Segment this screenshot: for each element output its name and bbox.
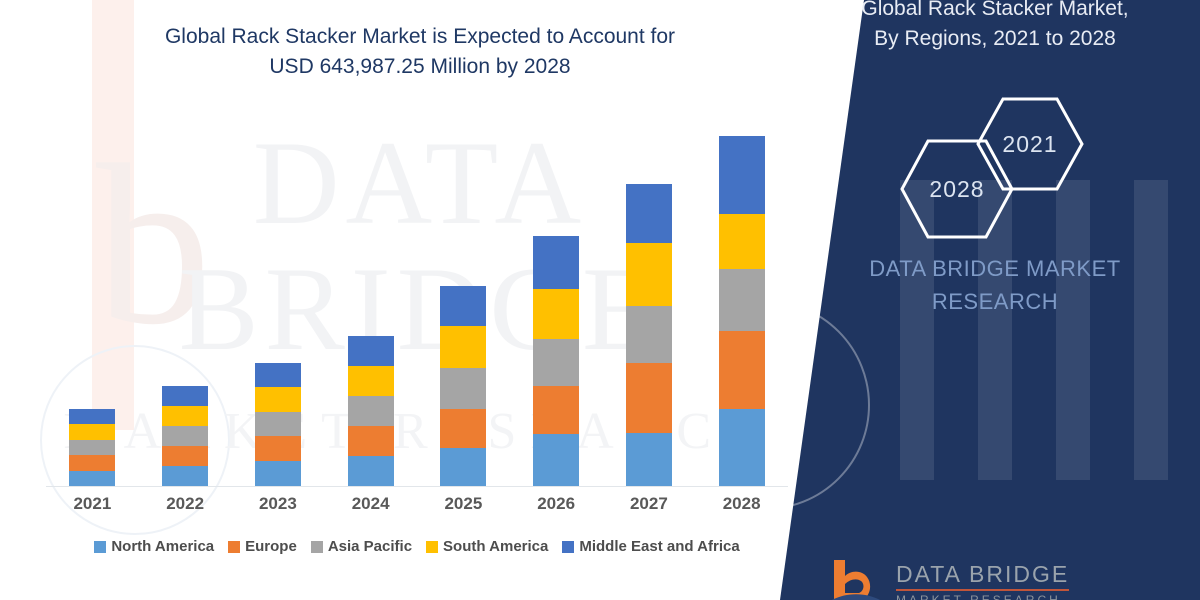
bar-segment[interactable]	[719, 269, 765, 331]
bar-segment[interactable]	[440, 286, 486, 326]
legend-label: Middle East and Africa	[579, 538, 739, 555]
x-axis-tick-label: 2025	[418, 494, 508, 514]
hexagon-2021-label: 2021	[1002, 131, 1057, 158]
bar-segment[interactable]	[348, 336, 394, 366]
brand-panel: Global Rack Stacker Market, By Regions, …	[780, 0, 1200, 600]
bar-segment[interactable]	[533, 434, 579, 486]
x-axis-tick-label: 2021	[47, 494, 137, 514]
chart-title: Global Rack Stacker Market is Expected t…	[60, 22, 780, 83]
x-axis-tick-label: 2028	[697, 494, 787, 514]
bar-stack[interactable]	[533, 236, 579, 486]
brand-name-line-2: RESEARCH	[800, 285, 1190, 318]
bar-segment[interactable]	[440, 409, 486, 448]
bar-segment[interactable]	[626, 243, 672, 306]
stacked-bar-series	[46, 120, 788, 486]
legend-item[interactable]: North America	[94, 538, 214, 555]
bar-segment[interactable]	[626, 306, 672, 363]
bar-segment[interactable]	[69, 424, 115, 440]
bar-stack[interactable]	[626, 184, 672, 486]
legend-label: North America	[111, 538, 214, 555]
bar-segment[interactable]	[533, 236, 579, 289]
legend-swatch-icon	[311, 541, 323, 553]
bar-segment[interactable]	[533, 339, 579, 386]
bar-stack[interactable]	[719, 136, 765, 486]
logo-title: DATA BRIDGE	[896, 563, 1069, 586]
legend-swatch-icon	[228, 541, 240, 553]
bar-segment[interactable]	[348, 426, 394, 456]
bar-stack[interactable]	[69, 409, 115, 486]
logo-divider	[896, 589, 1069, 591]
legend-item[interactable]: Asia Pacific	[311, 538, 412, 555]
bar-column	[604, 120, 694, 486]
legend-item[interactable]: South America	[426, 538, 548, 555]
bar-segment[interactable]	[255, 412, 301, 436]
bar-segment[interactable]	[162, 386, 208, 406]
bar-segment[interactable]	[255, 461, 301, 486]
legend-swatch-icon	[426, 541, 438, 553]
bar-column	[233, 120, 323, 486]
bar-segment[interactable]	[626, 433, 672, 486]
bar-segment[interactable]	[255, 363, 301, 387]
x-axis-tick-label: 2022	[140, 494, 230, 514]
brand-name: DATA BRIDGE MARKET RESEARCH	[800, 252, 1190, 318]
bar-column	[697, 120, 787, 486]
bar-column	[511, 120, 601, 486]
bar-segment[interactable]	[533, 289, 579, 339]
bar-segment[interactable]	[719, 331, 765, 409]
hexagon-badges: 2028 2021	[898, 95, 1108, 230]
infographic-canvas: b DATA BRIDGE MARKET RESEARCH Global Rac…	[0, 0, 1200, 600]
bar-segment[interactable]	[348, 396, 394, 426]
legend-item[interactable]: Europe	[228, 538, 297, 555]
bar-segment[interactable]	[719, 214, 765, 269]
brand-panel-title-line-2: By Regions, 2021 to 2028	[810, 24, 1180, 54]
bar-segment[interactable]	[626, 184, 672, 243]
legend-label: Asia Pacific	[328, 538, 412, 555]
bar-column	[326, 120, 416, 486]
x-axis-tick-label: 2026	[511, 494, 601, 514]
bar-segment[interactable]	[162, 426, 208, 446]
hexagon-2021: 2021	[974, 95, 1086, 193]
bar-segment[interactable]	[69, 409, 115, 424]
bar-segment[interactable]	[348, 456, 394, 486]
x-axis-line	[46, 486, 788, 487]
bar-segment[interactable]	[162, 406, 208, 426]
bar-segment[interactable]	[69, 440, 115, 455]
chart-legend: North AmericaEuropeAsia PacificSouth Ame…	[46, 538, 788, 555]
legend-label: Europe	[245, 538, 297, 555]
bar-stack[interactable]	[440, 286, 486, 486]
legend-swatch-icon	[94, 541, 106, 553]
bar-column	[140, 120, 230, 486]
bar-stack[interactable]	[162, 386, 208, 486]
bar-segment[interactable]	[440, 448, 486, 486]
chart-title-line-2: USD 643,987.25 Million by 2028	[60, 52, 780, 82]
x-axis-tick-labels: 20212022202320242025202620272028	[46, 494, 788, 514]
x-axis-tick-label: 2027	[604, 494, 694, 514]
bridge-logo-icon	[828, 560, 884, 600]
brand-panel-title: Global Rack Stacker Market, By Regions, …	[810, 0, 1180, 55]
legend-label: South America	[443, 538, 548, 555]
brand-name-line-1: DATA BRIDGE MARKET	[800, 252, 1190, 285]
chart-panel: Global Rack Stacker Market is Expected t…	[0, 0, 840, 600]
chart-title-line-1: Global Rack Stacker Market is Expected t…	[60, 22, 780, 52]
logo-wordmark: DATA BRIDGE MARKET RESEARCH	[896, 563, 1069, 600]
legend-swatch-icon	[562, 541, 574, 553]
x-axis-tick-label: 2024	[326, 494, 416, 514]
bar-segment[interactable]	[255, 387, 301, 412]
company-logo: DATA BRIDGE MARKET RESEARCH	[828, 560, 1069, 600]
bar-segment[interactable]	[69, 471, 115, 486]
bar-segment[interactable]	[533, 386, 579, 434]
bar-segment[interactable]	[255, 436, 301, 461]
bar-segment[interactable]	[348, 366, 394, 396]
bar-segment[interactable]	[719, 409, 765, 486]
logo-subtitle: MARKET RESEARCH	[896, 594, 1069, 600]
brand-panel-title-line-1: Global Rack Stacker Market,	[810, 0, 1180, 24]
bar-segment[interactable]	[719, 136, 765, 214]
bar-segment[interactable]	[162, 446, 208, 466]
bar-column	[418, 120, 508, 486]
x-axis-tick-label: 2023	[233, 494, 323, 514]
bar-stack[interactable]	[348, 336, 394, 486]
legend-item[interactable]: Middle East and Africa	[562, 538, 739, 555]
bar-segment[interactable]	[626, 363, 672, 433]
bar-segment[interactable]	[162, 466, 208, 486]
bar-segment[interactable]	[69, 455, 115, 471]
bar-column	[47, 120, 137, 486]
bar-segment[interactable]	[440, 368, 486, 409]
bar-segment[interactable]	[440, 326, 486, 368]
bar-stack[interactable]	[255, 363, 301, 486]
